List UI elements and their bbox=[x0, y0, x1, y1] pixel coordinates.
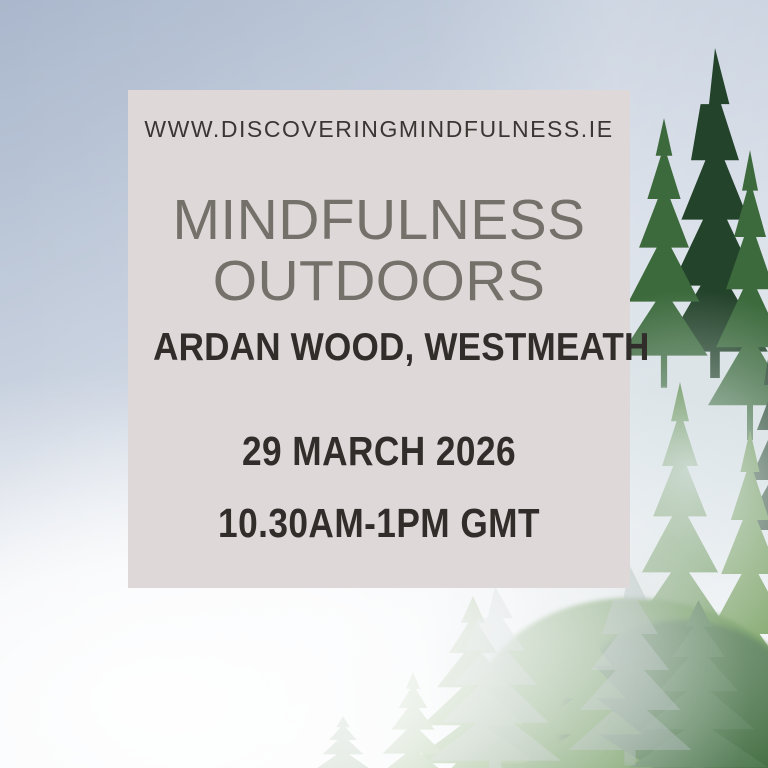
event-poster: WWW.DISCOVERINGMINDFULNESS.IE MINDFULNES… bbox=[0, 0, 768, 768]
page-title: MINDFULNESS OUTDOORS bbox=[128, 190, 630, 312]
event-time: 10.30AM-1PM GMT bbox=[163, 500, 595, 547]
website-url: WWW.DISCOVERINGMINDFULNESS.IE bbox=[128, 116, 630, 143]
text-overlay-panel: WWW.DISCOVERINGMINDFULNESS.IE MINDFULNES… bbox=[128, 90, 630, 588]
event-date: 29 MARCH 2026 bbox=[163, 428, 595, 475]
event-location: ARDAN WOOD, WESTMEATH bbox=[153, 326, 605, 370]
title-line-two: OUTDOORS bbox=[128, 251, 630, 312]
title-line-one: MINDFULNESS bbox=[128, 190, 630, 251]
